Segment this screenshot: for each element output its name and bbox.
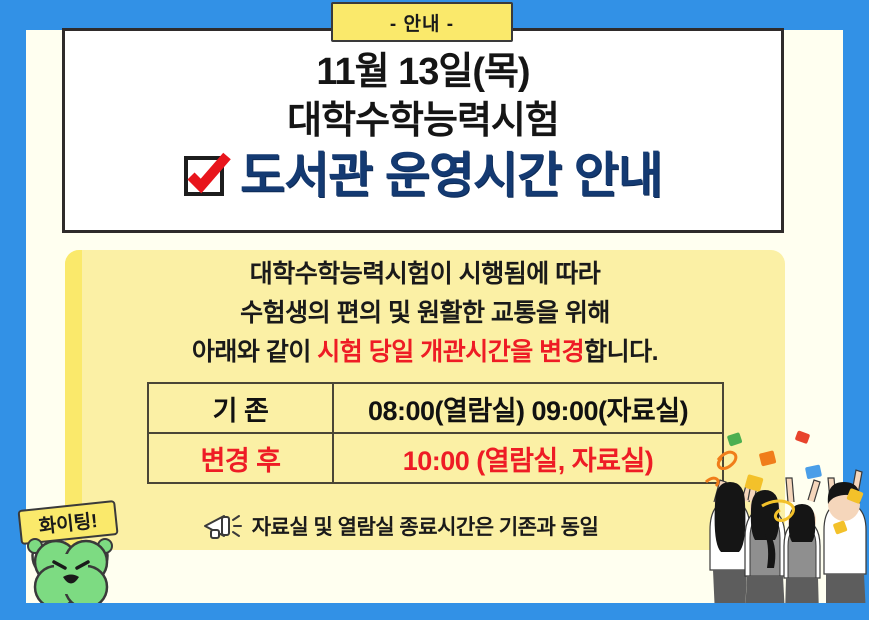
bottom-frame-strip — [0, 603, 869, 615]
row-value-before: 08:00(열람실) 09:00(자료실) — [333, 383, 723, 433]
page-title: 도서관 운영시간 안내 — [240, 152, 662, 201]
body-line-3: 아래와 같이 시험 당일 개관시간을 변경합니다. — [65, 336, 785, 369]
schedule-table: 기 존 08:00(열람실) 09:00(자료실) 변경 후 10:00 (열람… — [147, 382, 724, 484]
header-date-line: 11월 13일(목) — [316, 53, 529, 93]
notice-tab: - 안내 - — [331, 2, 513, 42]
table-row: 변경 후 10:00 (열람실, 자료실) — [148, 433, 723, 483]
megaphone-icon — [202, 511, 244, 541]
body-paragraph: 대학수학능력시험이 시행됨에 따라 수험생의 편의 및 원활한 교통을 위해 아… — [65, 258, 785, 375]
row-label-before: 기 존 — [148, 383, 333, 433]
row-value-after: 10:00 (열람실, 자료실) — [333, 433, 723, 483]
body-line-1: 대학수학능력시험이 시행됨에 따라 — [65, 258, 785, 291]
header-title-row: 도서관 운영시간 안내 — [184, 152, 662, 201]
body-line-3-suffix: 합니다. — [584, 338, 658, 366]
body-line-3-prefix: 아래와 같이 — [192, 338, 317, 366]
checked-checkbox-icon — [184, 156, 224, 196]
footnote-text: 자료실 및 열람실 종료시간은 기존과 동일 — [252, 511, 599, 541]
header-exam-line: 대학수학능력시험 — [287, 102, 559, 142]
table-row: 기 존 08:00(열람실) 09:00(자료실) — [148, 383, 723, 433]
body-line-3-highlight: 시험 당일 개관시간을 변경 — [317, 338, 584, 366]
header-box: 11월 13일(목) 대학수학능력시험 도서관 운영시간 안내 — [62, 28, 784, 233]
clover-mascot: 화이팅! — [6, 492, 136, 607]
notice-tab-label: - 안내 - — [390, 9, 454, 36]
body-line-2: 수험생의 편의 및 원활한 교통을 위해 — [65, 297, 785, 330]
confetti-decoration — [700, 430, 869, 540]
row-label-after: 변경 후 — [148, 433, 333, 483]
footnote: 자료실 및 열람실 종료시간은 기존과 동일 — [120, 505, 680, 547]
